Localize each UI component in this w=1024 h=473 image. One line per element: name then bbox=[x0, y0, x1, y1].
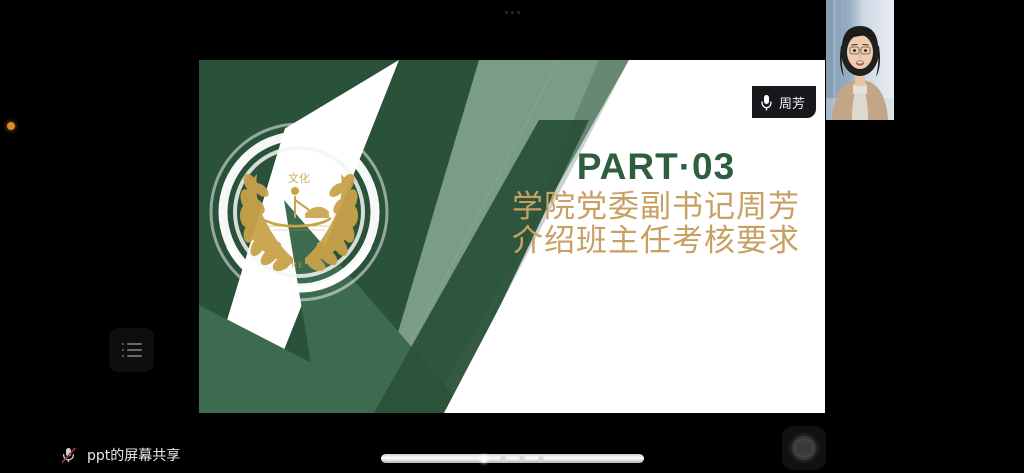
meeting-stage: CULTURE HERITAGE 文化 PART·03 学院党委副书记周芳 介绍… bbox=[0, 0, 1024, 473]
list-icon-bullet bbox=[122, 343, 124, 345]
shared-screen-slide[interactable]: CULTURE HERITAGE 文化 PART·03 学院党委副书记周芳 介绍… bbox=[199, 60, 825, 413]
participant-name-badge: 周芳 bbox=[752, 86, 816, 118]
list-icon bbox=[122, 343, 142, 357]
page-dot[interactable] bbox=[481, 456, 487, 462]
page-indicator[interactable] bbox=[381, 454, 644, 463]
list-icon-row bbox=[122, 355, 142, 357]
recording-indicator-dot bbox=[7, 122, 15, 130]
capture-inner-ring bbox=[795, 439, 813, 457]
list-icon-row bbox=[122, 343, 142, 345]
list-icon-row bbox=[122, 349, 142, 351]
page-dot[interactable] bbox=[519, 456, 525, 462]
microphone-icon bbox=[760, 94, 773, 111]
more-dot bbox=[511, 11, 514, 14]
capture-button[interactable] bbox=[782, 426, 826, 470]
microphone-muted-icon bbox=[60, 446, 78, 464]
list-icon-bar bbox=[127, 355, 142, 357]
list-icon-bullet bbox=[122, 355, 124, 357]
list-icon-bar bbox=[127, 349, 142, 351]
participant-video-tile[interactable] bbox=[826, 0, 894, 120]
slide-background-art: CULTURE HERITAGE 文化 bbox=[199, 60, 825, 413]
svg-text:文化: 文化 bbox=[288, 171, 310, 185]
page-dot[interactable] bbox=[538, 456, 544, 462]
list-icon-bullet bbox=[122, 349, 124, 351]
more-dot bbox=[517, 11, 520, 14]
participant-video-frame bbox=[826, 0, 894, 120]
participant-name: 周芳 bbox=[779, 93, 805, 112]
screen-share-label: ppt的屏幕共享 bbox=[87, 445, 180, 465]
more-dot bbox=[505, 11, 508, 14]
participants-list-button[interactable] bbox=[109, 328, 154, 372]
screen-share-status: ppt的屏幕共享 bbox=[60, 445, 180, 465]
list-icon-bar bbox=[127, 343, 142, 345]
capture-circle-icon bbox=[792, 436, 816, 460]
page-dot[interactable] bbox=[500, 456, 506, 462]
